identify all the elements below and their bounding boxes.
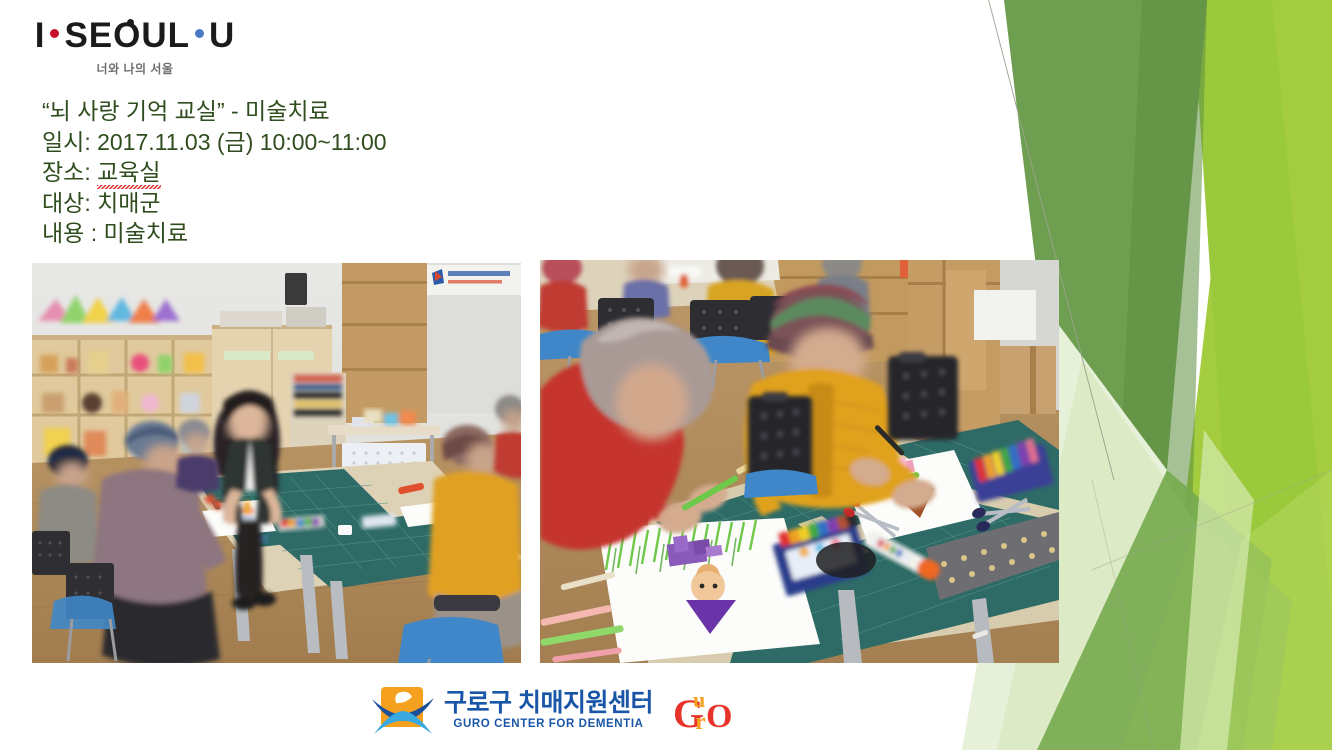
location-value-misspelled: 교육실	[97, 157, 160, 188]
location-line: 장소: 교육실	[42, 157, 662, 188]
svg-text:r: r	[695, 709, 706, 733]
target-group-line: 대상: 치매군	[42, 188, 662, 219]
schedule-line: 일시: 2017.11.03 (금) 10:00~11:00	[42, 127, 662, 158]
guro-wordmark-icon: G u r O	[673, 687, 735, 733]
facet-shape-yellow-green	[1192, 0, 1332, 750]
footer-organization-logo: 구로구 치매지원센터 GURO CENTER FOR DEMENTIA G u …	[372, 681, 735, 739]
facet-shape-bright-right	[1157, 0, 1332, 750]
photo-art-therapy-classroom-wide	[32, 263, 521, 663]
seoul-letter-i: I	[35, 18, 46, 53]
program-title-line: “뇌 사랑 기억 교실” - 미술치료	[42, 96, 662, 127]
seoul-o-accent-icon	[127, 19, 134, 26]
seoul-wordmark: I SEOUL U	[20, 18, 250, 53]
presentation-slide: I SEOUL U 너와 나의 서울 “뇌 사랑 기억 교실” - 미술치료 일…	[0, 0, 1332, 750]
location-label: 장소:	[42, 159, 97, 185]
seoul-dot-blue-icon	[195, 29, 204, 38]
seoul-dot-red-icon	[50, 29, 59, 38]
i-seoul-u-logo: I SEOUL U 너와 나의 서울	[20, 18, 250, 80]
seoul-tagline: 너와 나의 서울	[20, 60, 250, 77]
svg-text:O: O	[706, 698, 732, 733]
activity-content-line: 내용 : 미술치료	[42, 218, 662, 249]
facet-shape-light-overlay-right	[1197, 470, 1332, 750]
guro-center-name-en: GURO CENTER FOR DEMENTIA	[444, 718, 653, 730]
slide-text-block: “뇌 사랑 기억 교실” - 미술치료 일시: 2017.11.03 (금) 1…	[42, 96, 662, 249]
facet-shape-green-overlay-lower	[1122, 520, 1292, 750]
seoul-letter-u: U	[209, 18, 235, 53]
facet-hairline-diag	[1092, 480, 1154, 750]
facet-hairline-lower	[1092, 470, 1332, 570]
facet-shape-deep-green	[1122, 0, 1207, 520]
guro-center-name-block: 구로구 치매지원센터 GURO CENTER FOR DEMENTIA	[444, 690, 653, 730]
guro-center-name-ko: 구로구 치매지원센터	[444, 690, 653, 716]
facet-shape-pale-sliver	[1180, 430, 1254, 750]
photo-art-therapy-participants-closeup	[540, 260, 1059, 663]
facet-shape-mid-green-lower	[1037, 470, 1272, 750]
guro-center-symbol-icon	[372, 685, 434, 735]
